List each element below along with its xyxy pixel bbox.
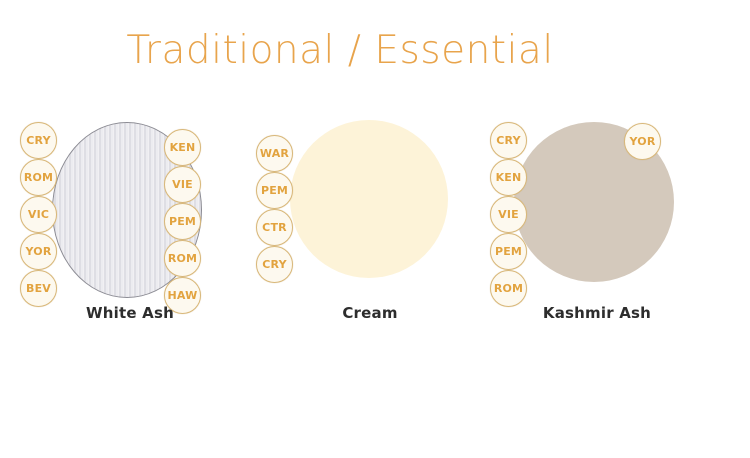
badge-cry[interactable]: CRY xyxy=(20,122,57,159)
badge-bev[interactable]: BEV xyxy=(20,270,57,307)
badge-vie[interactable]: VIE xyxy=(164,166,201,203)
badge-ken[interactable]: KEN xyxy=(164,129,201,166)
swatch-label-kashmir-ash: Kashmir Ash xyxy=(512,304,682,322)
badge-rom[interactable]: ROM xyxy=(164,240,201,277)
badge-war[interactable]: WAR xyxy=(256,135,293,172)
badge-cry[interactable]: CRY xyxy=(490,122,527,159)
badge-rom[interactable]: ROM xyxy=(20,159,57,196)
badge-ken[interactable]: KEN xyxy=(490,159,527,196)
badge-vic[interactable]: VIC xyxy=(20,196,57,233)
badge-pem[interactable]: PEM xyxy=(490,233,527,270)
badge-rom[interactable]: ROM xyxy=(490,270,527,307)
page-title: Traditional / Essential xyxy=(0,28,680,73)
color-swatch-board: Traditional / Essential CRYROMVICYORBEV … xyxy=(0,0,750,458)
color-swatch-cream[interactable] xyxy=(290,120,448,278)
badge-cry[interactable]: CRY xyxy=(256,246,293,283)
badge-yor[interactable]: YOR xyxy=(624,123,661,160)
badge-pem[interactable]: PEM xyxy=(256,172,293,209)
badge-pem[interactable]: PEM xyxy=(164,203,201,240)
badge-vie[interactable]: VIE xyxy=(490,196,527,233)
swatch-label-cream: Cream xyxy=(310,304,430,322)
swatch-label-white-ash: White Ash xyxy=(70,304,190,322)
badge-ctr[interactable]: CTR xyxy=(256,209,293,246)
badge-yor[interactable]: YOR xyxy=(20,233,57,270)
